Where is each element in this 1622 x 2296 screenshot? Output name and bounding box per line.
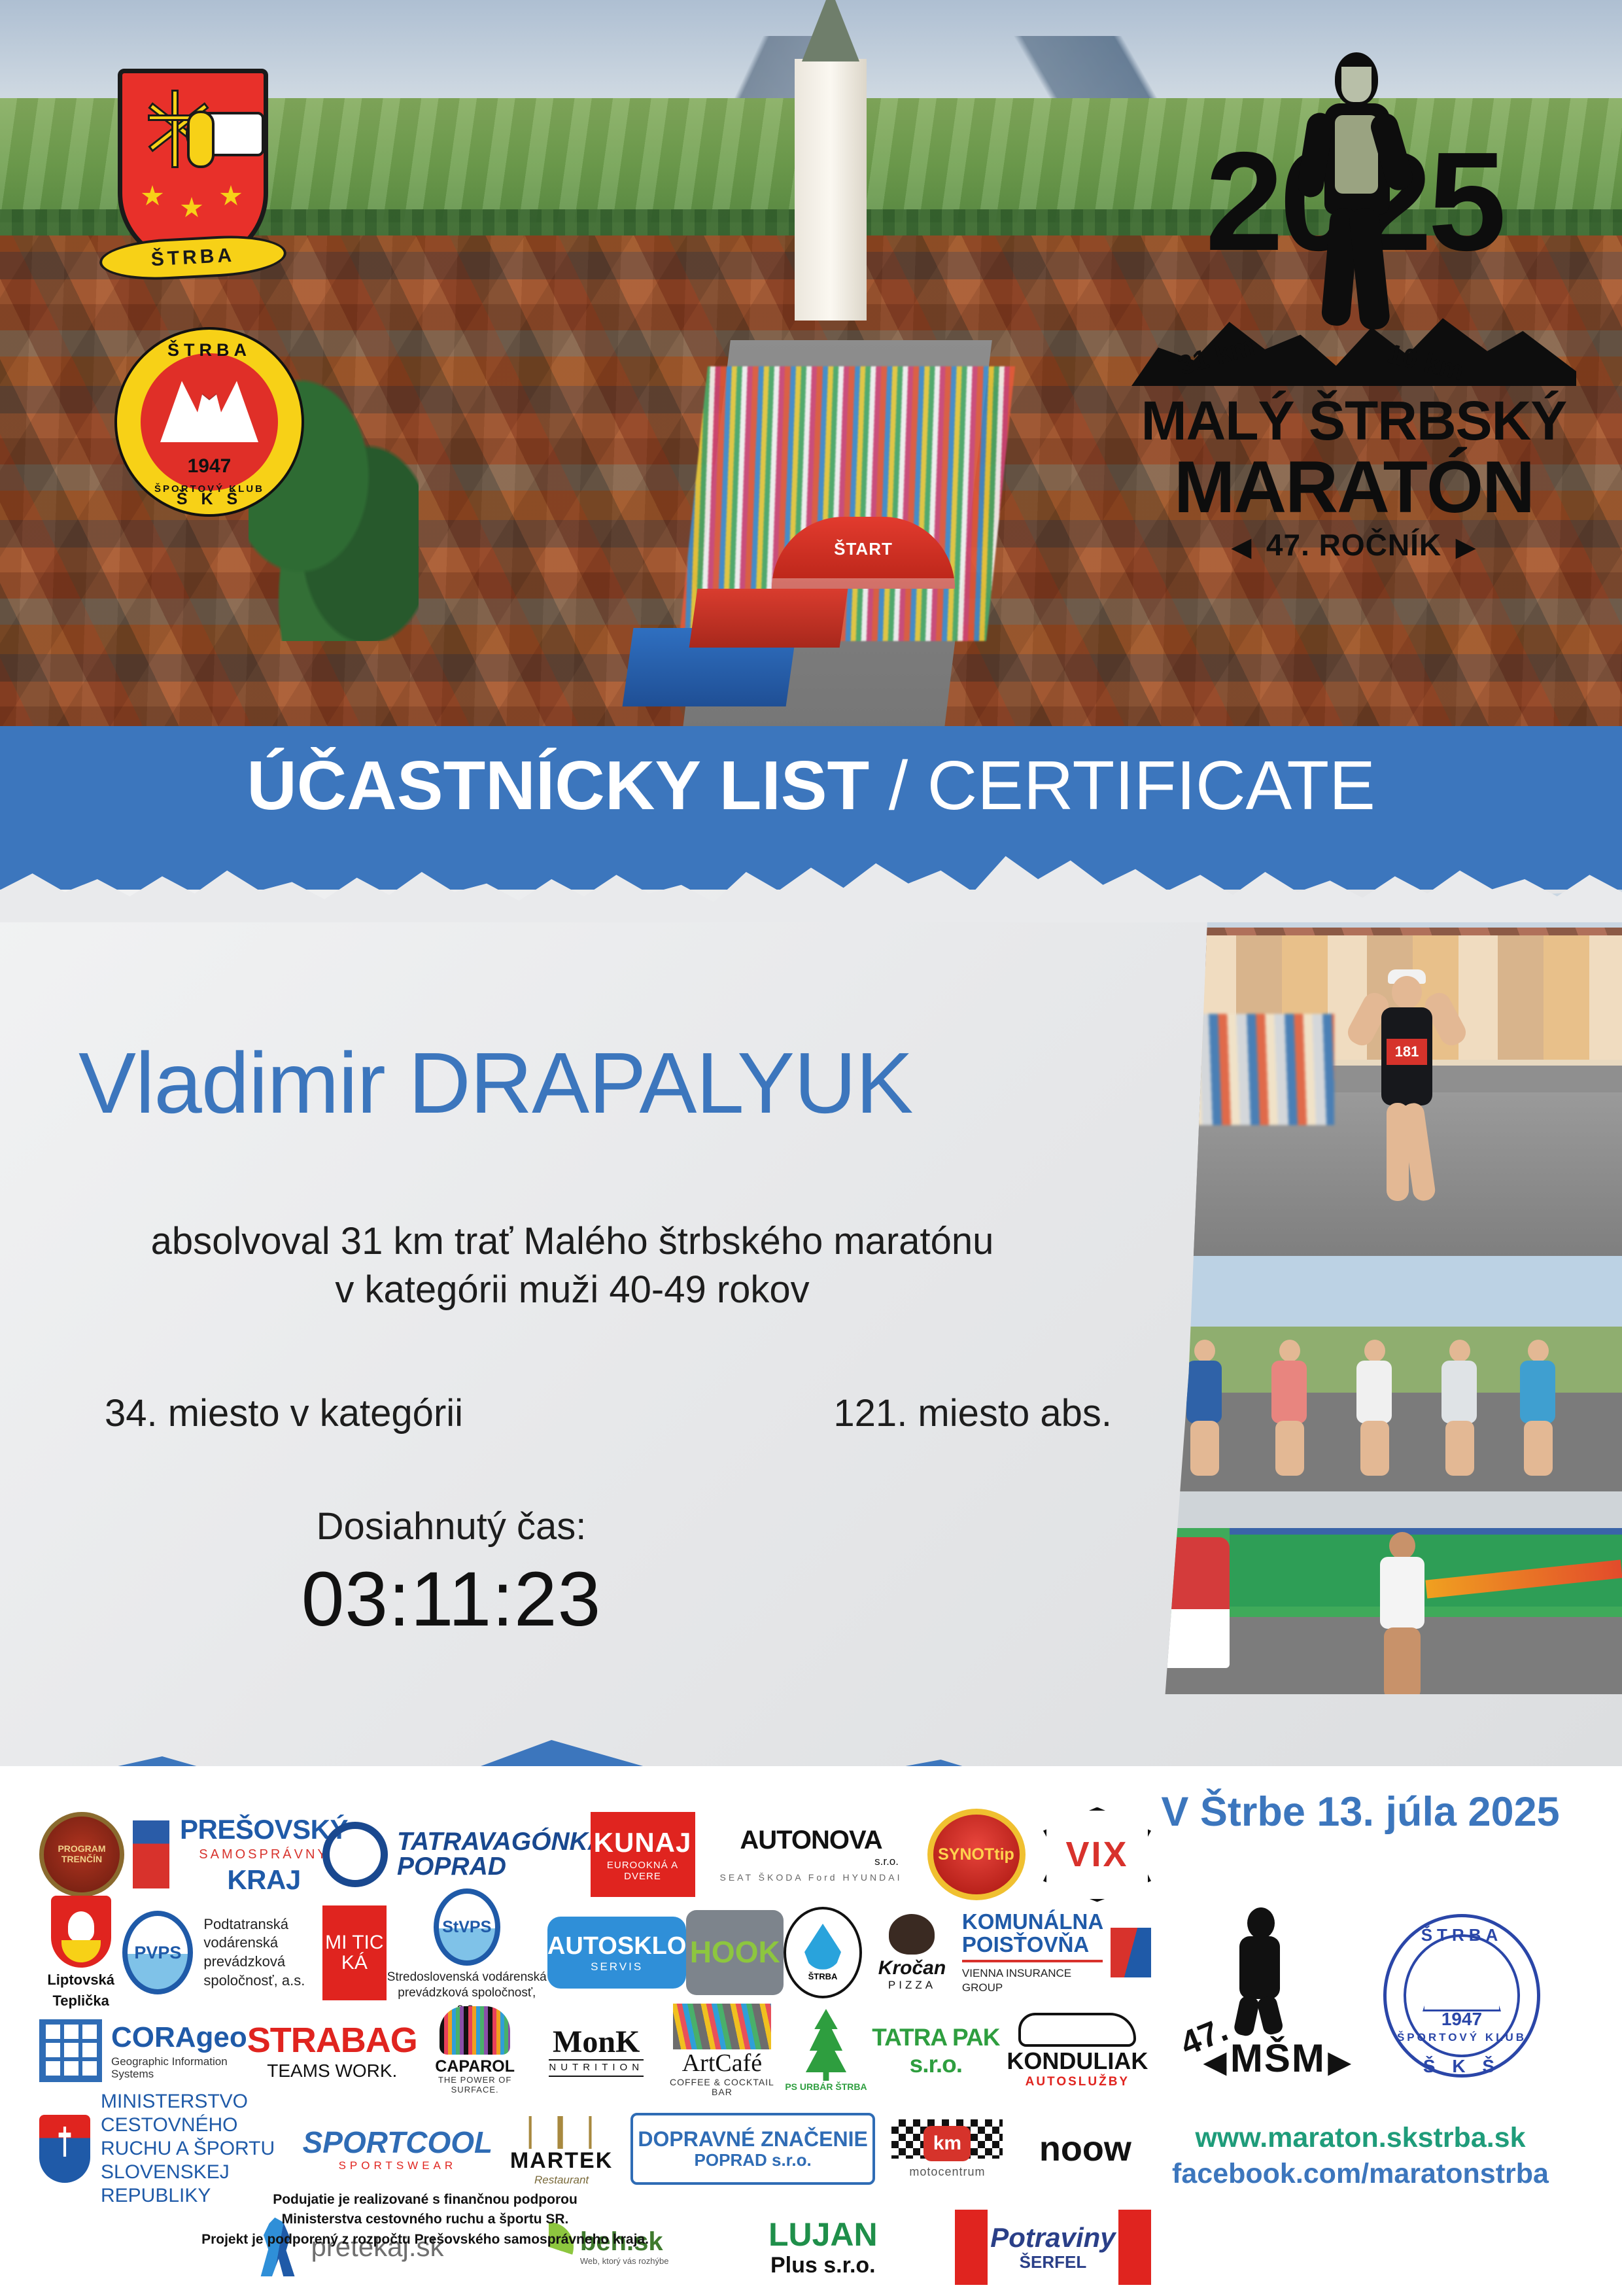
- footer-right-column: V Štrbe 13. júla 2025 47. MŠM ŠTRBA 1947…: [1145, 1788, 1576, 2190]
- sponsor-sportcool: SPORTCOOL SPORTSWEAR: [303, 2126, 493, 2172]
- photo-finish-female-runner: 181: [1151, 890, 1622, 1256]
- sponsor-sub: VIENNA INSURANCE GROUP: [962, 1967, 1071, 1993]
- sponsor-sub: COFFEE & COCKTAIL BAR: [660, 2078, 784, 2098]
- sponsor-corageo: CORAgeo Geographic Information Systems: [39, 2019, 247, 2082]
- sponsor-name: SPORTCOOL: [303, 2126, 493, 2160]
- legal-line-2: Ministerstva cestovného ruchu a športu S…: [78, 2210, 772, 2229]
- facebook-link[interactable]: facebook.com/maratonstrba: [1145, 2158, 1576, 2190]
- club-stamp: ŠTRBA 1947 ŠPORTOVÝ KLUB Š K Š: [1383, 1914, 1540, 2078]
- event-title-line2: MARATÓN: [1125, 445, 1583, 529]
- sponsor-sub: SERVIS: [591, 1960, 643, 1973]
- sponsor-autosklo: AUTOSKLO SERVIS: [547, 1917, 687, 1989]
- certificate-text-block: Vladimir DRAPALYUK absolvoval 31 km trať…: [78, 1034, 1138, 1644]
- sponsor-row-3: CORAgeo Geographic Information Systems S…: [39, 2002, 1151, 2100]
- sponsor-name: CAPAROL: [435, 2057, 515, 2076]
- sponsor-potraviny-serfel: Potraviny ŠERFEL: [955, 2210, 1151, 2285]
- sponsor-sub: Teplička: [52, 1993, 109, 2009]
- hero-photo: ŠTRBA ŠTRBA 1947 ŠPORTOVÝ KLUB Š K Š 202…: [0, 0, 1622, 726]
- runner-silhouette-icon: [1305, 52, 1413, 327]
- sponsor-name: PS URBÁR ŠTRBA: [785, 2082, 867, 2093]
- red-tent: [689, 589, 848, 648]
- legal-line-1: Podujatie je realizované s finančnou pod…: [78, 2190, 772, 2210]
- sponsor-name: KUNAJ: [594, 1827, 692, 1858]
- sponsor-konduliak: KONDULIAK AUTOSLUŽBY: [1004, 2013, 1151, 2089]
- msm-abbrev: MŠM: [1204, 2036, 1352, 2081]
- sponsor-autonova: AUTONOVA s.r.o. SEAT ŠKODA Ford HYUNDAI: [713, 1826, 909, 1883]
- sponsor-name: PREŠOVSKÝ: [180, 1814, 348, 1845]
- website-link[interactable]: www.maraton.skstrba.sk: [1145, 2122, 1576, 2154]
- banner-separator: /: [869, 747, 927, 824]
- stamp-year: 1947: [1387, 2009, 1537, 2030]
- category-place: 34. miesto v kategórii: [105, 1391, 463, 1435]
- sponsor-sub: POPRAD s.r.o.: [695, 2151, 812, 2170]
- race-bib-number: 181: [1387, 1039, 1427, 1065]
- photo-runners-group: [1151, 1256, 1622, 1491]
- footer-logos: 47. MŠM ŠTRBA 1947 ŠPORTOVÝ KLUB Š K Š: [1145, 1907, 1576, 2084]
- shield-icon: [51, 1896, 111, 1968]
- sponsor-car-brands: SEAT ŠKODA Ford HYUNDAI: [720, 1873, 903, 1883]
- placement-row: 34. miesto v kategórii 121. miesto abs.: [78, 1391, 1138, 1435]
- finish-time-block: Dosiahnutý čas: 03:11:23: [78, 1505, 1138, 1644]
- sponsor-sub: TEAMS WORK.: [267, 2061, 397, 2081]
- slovak-emblem-icon: [39, 2115, 90, 2183]
- sponsor-ps-urbar-strba: PS URBÁR ŠTRBA: [784, 2009, 868, 2093]
- sponsor-name: TATRAVAGÓNKA: [397, 1830, 606, 1854]
- sponsor-sub: Restaurant: [534, 2174, 589, 2186]
- sponsor-dopravne-znacenie: DOPRAVNÉ ZNAČENIE POPRAD s.r.o.: [630, 2113, 875, 2185]
- sponsor-name: Liptovská: [47, 1972, 114, 1989]
- banner-title-en: CERTIFICATE: [927, 747, 1375, 824]
- sponsor-sub: s.r.o.: [874, 1855, 899, 1868]
- banner-title: ÚČASTNÍCKY LIST / CERTIFICATE: [0, 751, 1622, 820]
- sponsor-name: LUJAN: [768, 2216, 878, 2253]
- club-logo-year: 1947: [117, 455, 302, 478]
- sponsor-name: MI TIC KÁ: [322, 1932, 387, 1974]
- church-spire: [802, 0, 859, 61]
- sponsor-name: Potraviny: [988, 2222, 1118, 2253]
- male-finisher: [1367, 1518, 1439, 1681]
- sponsor-name: SYNOT: [938, 1845, 994, 1864]
- time-label: Dosiahnutý čas:: [78, 1505, 824, 1548]
- time-value: 03:11:23: [78, 1555, 824, 1644]
- sponsor-sub: NUTRITION: [549, 2059, 644, 2077]
- sports-club-logo: ŠTRBA 1947 ŠPORTOVÝ KLUB Š K Š: [114, 327, 304, 517]
- sponsor-sub: Podtatranská vodárenská prevádzková spol…: [203, 1915, 322, 1990]
- color-bars-icon: [673, 2004, 771, 2049]
- sponsor-name: HOOK: [690, 1936, 780, 1970]
- sponsor-artcafe: ArtCafé COFFEE & COCKTAIL BAR: [660, 2004, 784, 2098]
- club-logo-abbrev: Š K Š: [117, 490, 302, 509]
- sponsor-kunaj: KUNAJ EUROOKNÁ A DVERE: [591, 1812, 695, 1897]
- sponsor-name: Kročan: [878, 1957, 946, 1979]
- banner-title-sk: ÚČASTNÍCKY LIST: [247, 747, 869, 824]
- sponsor-name: AUTOSKLO: [547, 1932, 687, 1960]
- female-runner: 181: [1367, 962, 1445, 1204]
- sponsor-sub: THE POWER OF SURFACE.: [417, 2076, 533, 2095]
- sponsor-sub: ŠERFEL: [988, 2253, 1118, 2272]
- stamp-bottom-text: Š K Š: [1387, 2056, 1537, 2077]
- club-logo-top-text: ŠTRBA: [117, 340, 302, 360]
- sponsor-sub: Web, ktorý vás rozhýbe: [580, 2257, 669, 2267]
- sponsor-noow: noow: [1020, 2129, 1151, 2168]
- elephant-icon: [440, 2006, 510, 2055]
- msm-logo: 47. MŠM: [1181, 1907, 1331, 2084]
- sponsor-caparol: CAPAROL THE POWER OF SURFACE.: [417, 2006, 533, 2095]
- sponsor-sub: TRENČÍN: [61, 1854, 102, 1865]
- sponsor-pvps: PVPS Podtatranská vodárenská prevádzková…: [122, 1911, 322, 1994]
- runner-icon: [1222, 1907, 1294, 2032]
- stamp-top-text: ŠTRBA: [1387, 1925, 1537, 1945]
- sponsor-name: noow: [1039, 2129, 1131, 2168]
- car-icon: [1018, 2013, 1136, 2047]
- sponsor-name: DOPRAVNÉ ZNAČENIE: [638, 2128, 867, 2151]
- sponsor-name: StVPS: [434, 1888, 500, 1966]
- sponsor-name: KONDULIAK: [1007, 2048, 1148, 2074]
- footer: PROGRAM TRENČÍN PREŠOVSKÝ SAMOSPRÁVNY KR…: [0, 1766, 1622, 2295]
- sponsor-name: AUTONOVA: [740, 1826, 882, 1855]
- event-title-line1: MALÝ ŠTRBSKÝ: [1125, 389, 1583, 453]
- sponsor-sub2: KRAJ: [180, 1864, 348, 1895]
- sponsor-synot-tip: SYNOTtip: [927, 1809, 1026, 1900]
- sponsor-vix: VIX: [1043, 1807, 1151, 1902]
- sponsor-name: MARTEK: [510, 2148, 613, 2173]
- sponsor-krocan-pizza: Kročan PIZZA: [862, 1914, 962, 1992]
- sponsor-program-trencin: PROGRAM TRENČÍN: [39, 1812, 124, 1897]
- oval-icon: [322, 1822, 388, 1887]
- certificate-body: Vladimir DRAPALYUK absolvoval 31 km trať…: [0, 890, 1622, 1766]
- sponsor-presovsky-kraj: PREŠOVSKÝ SAMOSPRÁVNY KRAJ: [143, 1814, 339, 1895]
- cutlery-icon: ❘❙❘: [517, 2112, 607, 2148]
- sponsor-name: PVPS: [122, 1911, 193, 1994]
- absolute-place: 121. miesto abs.: [833, 1391, 1112, 1435]
- certificate-banner: ÚČASTNÍCKY LIST / CERTIFICATE: [0, 726, 1622, 890]
- sponsor-pd-strba: ŠTRBA: [784, 1907, 862, 1998]
- sponsor-liptovska-teplicka: Liptovská Teplička: [39, 1896, 122, 2009]
- legal-line-3: Projekt je podporený z rozpočtu Prešovsk…: [78, 2230, 772, 2250]
- strba-coat-of-arms: ŠTRBA: [118, 69, 268, 265]
- event-logo: 2025 31 km 10 km MALÝ ŠTRBSKÝ MARATÓN 47…: [1125, 33, 1583, 595]
- sponsor-row-1: PROGRAM TRENČÍN PREŠOVSKÝ SAMOSPRÁVNY KR…: [39, 1805, 1151, 1904]
- sponsor-name: ArtCafé: [682, 2049, 762, 2078]
- sponsor-tatrapak: TATRA PAK s.r.o.: [868, 2024, 1004, 2078]
- legal-notice: Podujatie je realizované s finančnou pod…: [78, 2190, 772, 2250]
- hand-icon: [186, 112, 264, 156]
- turkey-icon: [889, 1914, 935, 1955]
- sponsor-sub: motocentrum: [909, 2165, 985, 2178]
- sponsor-name: STRABAG: [247, 2021, 417, 2060]
- event-edition: 47. ROČNÍK: [1125, 527, 1583, 563]
- sponsor-name: KOMUNÁLNA POISŤOVŇA: [962, 1911, 1103, 1956]
- photo-finish-line: [1151, 1491, 1622, 1694]
- flag-icon: [133, 1820, 169, 1888]
- certificate-description: absolvoval 31 km trať Malého štrbského m…: [78, 1217, 1138, 1314]
- sponsor-miticka: MI TIC KÁ: [322, 1905, 387, 2000]
- description-line-2: v kategórii muži 40-49 rokov: [78, 1266, 1066, 1314]
- sponsor-sub: PIZZA: [888, 1979, 936, 1991]
- sponsor-hook: HOOK: [686, 1910, 784, 1995]
- sponsor-sub: Plus s.r.o.: [770, 2253, 876, 2278]
- sponsor-sub: EUROOKNÁ A DVERE: [591, 1860, 695, 1883]
- sponsor-row-4: MINISTERSTVO CESTOVNÉHO RUCHU A ŠPORTU S…: [39, 2100, 1151, 2198]
- photo-collage: 181: [1151, 890, 1622, 1694]
- contact-links: www.maraton.skstrba.sk facebook.com/mara…: [1145, 2122, 1576, 2190]
- sponsor-strabag: STRABAG TEAMS WORK.: [247, 2021, 417, 2081]
- church-building: [795, 59, 867, 321]
- sponsor-sub: SPORTSWEAR: [339, 2159, 457, 2172]
- grid-icon: [39, 2019, 102, 2082]
- sponsor-sub: Geographic Information Systems: [111, 2055, 247, 2080]
- tree-icon: [802, 2009, 850, 2081]
- sponsor-komunalna-poistovna: KOMUNÁLNA POISŤOVŇA VIENNA INSURANCE GRO…: [962, 1911, 1151, 1994]
- water-drop-icon: [804, 1924, 841, 1970]
- sponsor-sub: AUTOSLUŽBY: [1026, 2075, 1130, 2089]
- sponsor-martek: ❘❙❘ MARTEK Restaurant: [492, 2112, 630, 2185]
- folk-costume-person: [1164, 1537, 1230, 1668]
- stamp-mid-text: ŠPORTOVÝ KLUB: [1387, 2031, 1537, 2044]
- sponsor-name: CORAgeo: [111, 2021, 247, 2053]
- sponsor-monk-nutrition: MonK NUTRITION: [533, 2025, 660, 2078]
- description-line-1: absolvoval 31 km trať Malého štrbského m…: [78, 1217, 1066, 1266]
- sponsor-name: MonK: [553, 2025, 640, 2060]
- sponsor-name: PROGRAM: [58, 1844, 105, 1854]
- spectators: [1164, 1014, 1334, 1125]
- sponsor-row-2: Liptovská Teplička PVPS Podtatranská vod…: [39, 1904, 1151, 2002]
- sponsor-sub: ŠTRBA: [808, 1972, 838, 1982]
- sponsor-sub: POPRAD: [397, 1854, 606, 1879]
- sponsor-km-motocentrum: km motocentrum: [875, 2119, 1019, 2178]
- sponsor-tatravagonka: TATRAVAGÓNKA POPRAD: [356, 1822, 572, 1887]
- sponsor-name: TATRA PAK s.r.o.: [868, 2024, 1004, 2078]
- sponsor-sub: tip: [994, 1845, 1014, 1864]
- runner-name: Vladimir DRAPALYUK: [78, 1034, 1138, 1132]
- sponsor-stvps: StVPS Stredoslovenská vodárenská prevádz…: [387, 1888, 547, 2016]
- place-and-date: V Štrbe 13. júla 2025: [1145, 1788, 1576, 1835]
- sponsor-name: VIX: [1065, 1835, 1128, 1874]
- sponsor-name: km: [923, 2126, 971, 2161]
